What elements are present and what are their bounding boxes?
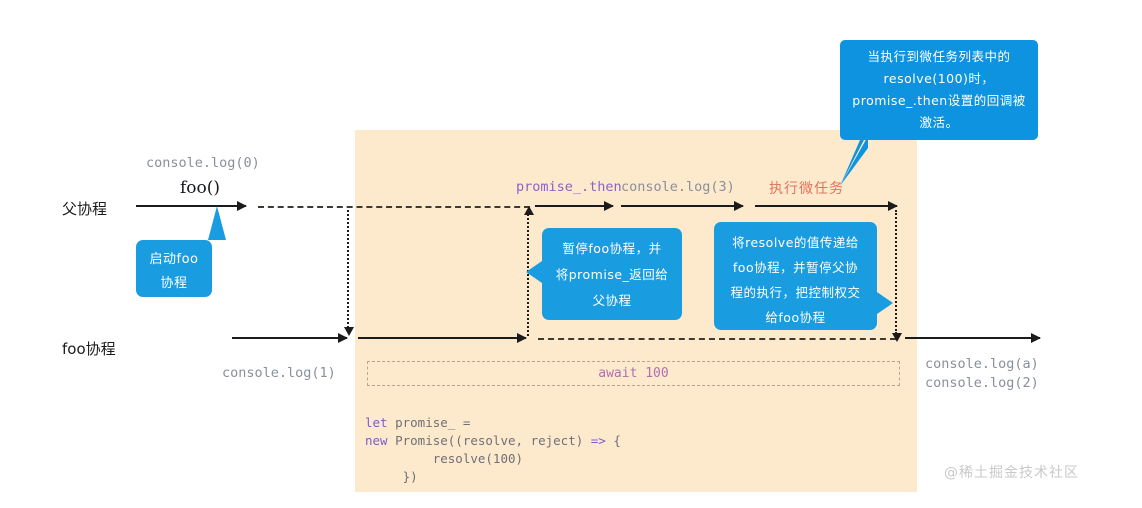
annotation-console-log-2: console.log(2) xyxy=(925,375,1039,391)
callout-tail-up-icon xyxy=(208,206,226,240)
callout-start-foo: 启动foo 协程 xyxy=(136,240,212,297)
watermark: @稀土掘金技术社区 xyxy=(944,462,1079,482)
code-line: }) xyxy=(365,468,621,486)
transfer-arrow-parent-to-foo xyxy=(347,210,349,328)
callout-resume-parent-line-1: foo协程，并暂停父协 xyxy=(724,255,867,280)
callout-start-foo-line-1: 协程 xyxy=(146,272,202,296)
arrowhead-down-icon xyxy=(344,327,354,336)
code-token: promise_ = xyxy=(388,415,471,430)
callout-tail-right-icon xyxy=(877,292,893,314)
callout-tail-left-icon xyxy=(526,261,542,283)
foo-lane-dashed-suspended xyxy=(538,338,896,340)
callout-resume-parent-line-2: 程的执行，把控制权交 xyxy=(724,280,867,305)
callout-pause-foo-line-2: 父协程 xyxy=(552,288,672,314)
parent-lane-arrow-then xyxy=(535,205,613,207)
code-token: { xyxy=(606,433,621,448)
foo-lane-arrow-start xyxy=(232,337,347,339)
callout-resume-parent-line-3: 给foo协程 xyxy=(724,305,867,330)
annotation-console-log-3: console.log(3) xyxy=(621,179,735,195)
code-line: let promise_ = xyxy=(365,414,621,432)
callout-pause-foo-line-0: 暂停foo协程，并 xyxy=(552,236,672,262)
parent-lane-dashed-suspended xyxy=(258,206,530,208)
foo-lane-arrow-resume xyxy=(905,337,1040,339)
code-token: => xyxy=(591,433,606,448)
annotation-console-log-1: console.log(1) xyxy=(222,365,336,381)
annotation-promise-then: promise_.then xyxy=(516,179,622,195)
parent-lane-arrow-start xyxy=(136,205,246,207)
annotation-foo-call: foo() xyxy=(180,178,220,198)
callout-pause-foo: 暂停foo协程，并 将promise_返回给 父协程 xyxy=(542,228,682,320)
tooltip-microtask-explanation: 当执行到微任务列表中的 resolve(100)时， promise_.then… xyxy=(840,40,1038,140)
tooltip-line-3: 激活。 xyxy=(846,112,1032,134)
code-line: resolve(100) xyxy=(365,450,621,468)
code-token: }) xyxy=(365,469,418,484)
code-token: let xyxy=(365,415,388,430)
transfer-arrow-parent-to-foo-resume xyxy=(895,210,897,334)
annotation-console-log-0: console.log(0) xyxy=(146,155,260,171)
arrowhead-down-icon xyxy=(892,333,902,342)
code-block: let promise_ =new Promise((resolve, reje… xyxy=(365,414,621,486)
annotation-console-log-a: console.log(a) xyxy=(925,356,1039,372)
callout-resume-parent: 将resolve的值传递给 foo协程，并暂停父协 程的执行，把控制权交 给fo… xyxy=(714,222,877,330)
callout-pause-foo-line-1: 将promise_返回给 xyxy=(552,262,672,288)
lane-label-foo: foo协程 xyxy=(62,338,116,359)
await-label: await 100 xyxy=(598,366,668,381)
parent-lane-arrow-log3 xyxy=(621,205,743,207)
code-token: Promise((resolve, reject) xyxy=(388,433,591,448)
diagram-canvas: 父协程 foo协程 console.log(0) foo() console.l… xyxy=(0,0,1142,508)
callout-start-foo-line-0: 启动foo xyxy=(146,248,202,272)
tooltip-line-1: resolve(100)时， xyxy=(846,68,1032,90)
callout-resume-parent-line-0: 将resolve的值传递给 xyxy=(724,230,867,255)
await-region: await 100 xyxy=(367,361,900,386)
code-token: new xyxy=(365,433,388,448)
tooltip-tail-icon xyxy=(828,136,868,188)
arrowhead-up-icon xyxy=(524,206,534,215)
tooltip-line-0: 当执行到微任务列表中的 xyxy=(846,46,1032,68)
tooltip-line-2: promise_.then设置的回调被 xyxy=(846,90,1032,112)
code-line: new Promise((resolve, reject) => { xyxy=(365,432,621,450)
code-token: resolve(100) xyxy=(365,451,523,466)
parent-lane-arrow-microtask xyxy=(755,205,897,207)
lane-label-parent: 父协程 xyxy=(62,198,107,219)
foo-lane-arrow-run xyxy=(358,337,526,339)
